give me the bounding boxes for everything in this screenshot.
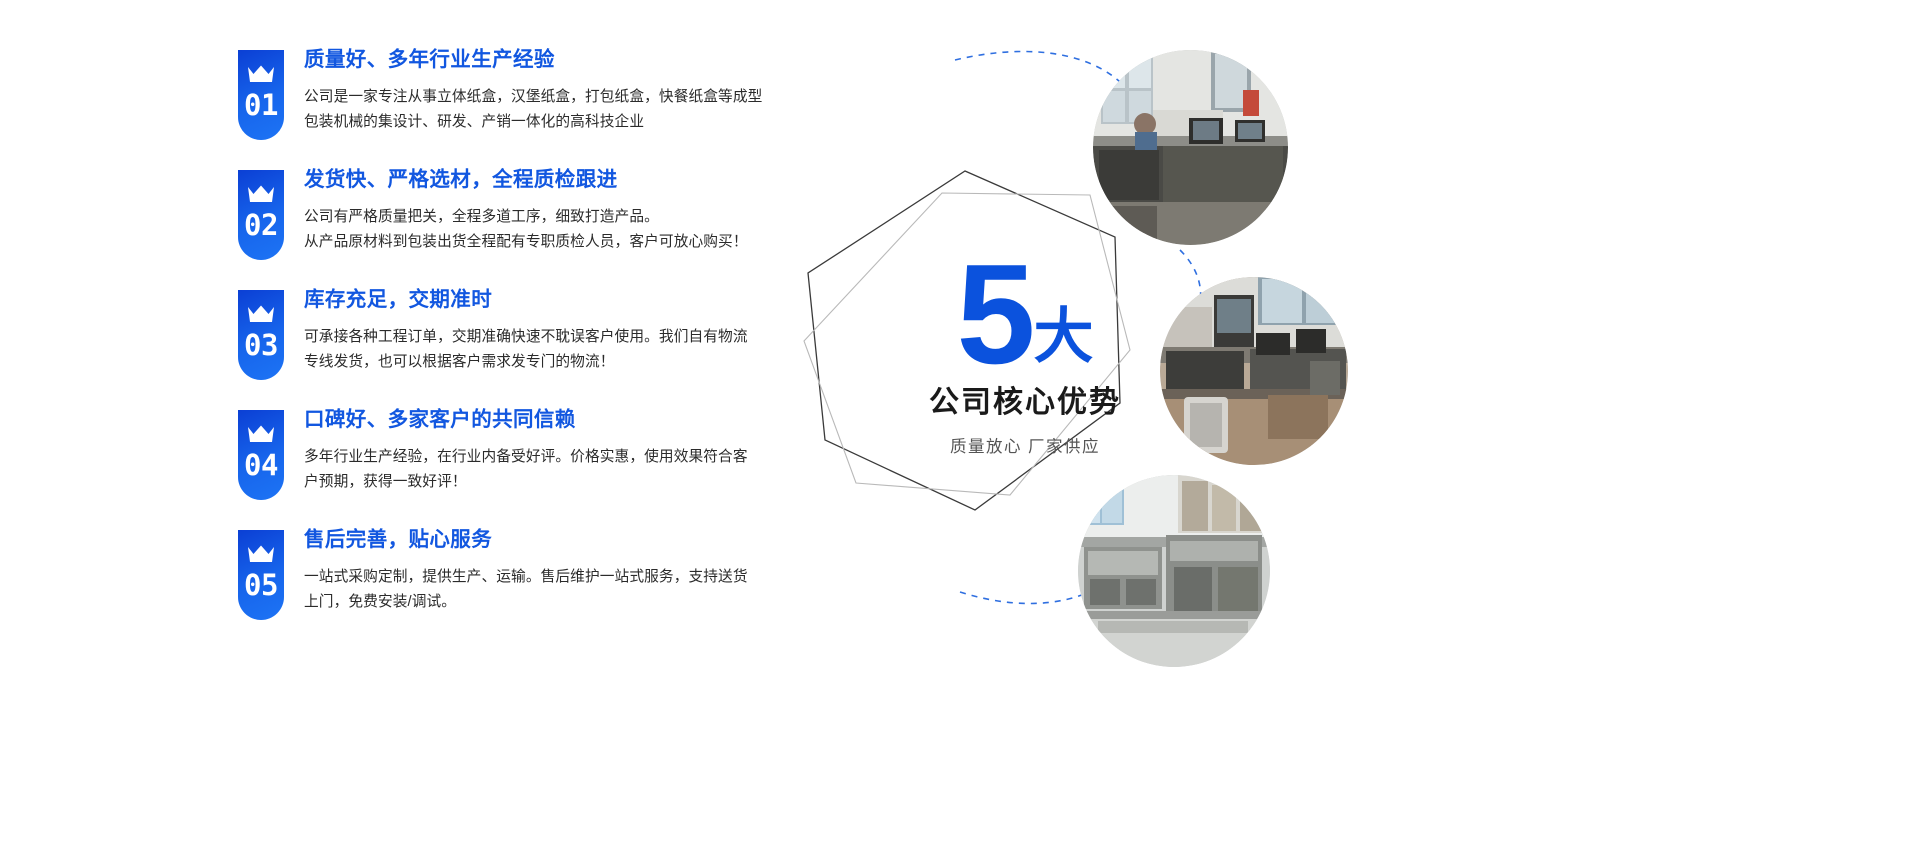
badge-number: 02: [238, 211, 284, 240]
hero-headline: 公司核心优势: [875, 377, 1175, 421]
badge-05: 05: [238, 530, 284, 620]
advantage-description: 多年行业生产经验，在行业内备受好评。价格实惠，使用效果符合客 户预期，获得一致好…: [304, 445, 783, 495]
badge-number: 04: [238, 451, 284, 480]
dashed-arc-top: [955, 51, 1132, 95]
advantage-text-01: 质量好、多年行业生产经验 公司是一家专注从事立体纸盒，汉堡纸盒，打包纸盒，快餐纸…: [304, 46, 783, 135]
crown-icon: [247, 544, 275, 564]
advantage-title: 售后完善，贴心服务: [304, 528, 783, 553]
advantage-desc-line: 从产品原材料到包装出货全程配有专职质检人员，客户可放心购买！: [304, 230, 783, 255]
production-machine-photo: [1078, 475, 1270, 667]
advantage-desc-line: 专线发货，也可以根据客户需求发专门的物流！: [304, 350, 783, 375]
office-desks-photo: [1160, 277, 1348, 465]
advantage-desc-line: 一站式采购定制，提供生产、运输。售后维护一站式服务，支持送货: [304, 565, 783, 590]
advantage-description: 公司是一家专注从事立体纸盒，汉堡纸盒，打包纸盒，快餐纸盒等成型 包装机械的集设计…: [304, 85, 783, 135]
advantage-text-03: 库存充足，交期准时 可承接各种工程订单，交期准确快速不耽误客户使用。我们自有物流…: [304, 286, 783, 375]
advantage-item-04[interactable]: 04 口碑好、多家客户的共同信赖 多年行业生产经验，在行业内备受好评。价格实惠，…: [238, 406, 783, 500]
advantages-page: 01 质量好、多年行业生产经验 公司是一家专注从事立体纸盒，汉堡纸盒，打包纸盒，…: [0, 0, 1920, 847]
advantage-description: 一站式采购定制，提供生产、运输。售后维护一站式服务，支持送货 上门，免费安装/调…: [304, 565, 783, 615]
badge-number: 01: [238, 91, 284, 120]
crown-icon: [247, 304, 275, 324]
advantage-desc-line: 多年行业生产经验，在行业内备受好评。价格实惠，使用效果符合客: [304, 445, 783, 470]
crown-icon: [247, 424, 275, 444]
badge-number: 05: [238, 571, 284, 600]
crown-icon: [247, 64, 275, 84]
badge-02: 02: [238, 170, 284, 260]
badge-01: 01: [238, 50, 284, 140]
advantage-title: 质量好、多年行业生产经验: [304, 48, 783, 73]
hero-center-text: 5大 公司核心优势 质量放心 厂家供应: [875, 250, 1175, 457]
advantage-description: 可承接各种工程订单，交期准确快速不耽误客户使用。我们自有物流 专线发货，也可以根…: [304, 325, 783, 375]
advantage-title: 库存充足，交期准时: [304, 288, 783, 313]
advantage-item-01[interactable]: 01 质量好、多年行业生产经验 公司是一家专注从事立体纸盒，汉堡纸盒，打包纸盒，…: [238, 46, 783, 140]
advantage-text-02: 发货快、严格选材，全程质检跟进 公司有严格质量把关，全程多道工序，细致打造产品。…: [304, 166, 783, 255]
advantage-item-03[interactable]: 03 库存充足，交期准时 可承接各种工程订单，交期准确快速不耽误客户使用。我们自…: [238, 286, 783, 380]
advantage-desc-line: 户预期，获得一致好评！: [304, 470, 783, 495]
office-desks-image: [1160, 277, 1348, 465]
advantage-item-02[interactable]: 02 发货快、严格选材，全程质检跟进 公司有严格质量把关，全程多道工序，细致打造…: [238, 166, 783, 260]
production-machine-image: [1078, 475, 1270, 667]
advantage-item-05[interactable]: 05 售后完善，贴心服务 一站式采购定制，提供生产、运输。售后维护一站式服务，支…: [238, 526, 783, 620]
hero-count-unit: 大: [1033, 307, 1093, 367]
hero-subheadline: 质量放心 厂家供应: [875, 433, 1175, 457]
hero-panel: 5大 公司核心优势 质量放心 厂家供应: [780, 0, 1920, 847]
advantage-title: 发货快、严格选材，全程质检跟进: [304, 168, 783, 193]
advantages-list: 01 质量好、多年行业生产经验 公司是一家专注从事立体纸盒，汉堡纸盒，打包纸盒，…: [238, 46, 783, 620]
advantage-desc-line: 公司有严格质量把关，全程多道工序，细致打造产品。: [304, 205, 783, 230]
badge-number: 03: [238, 331, 284, 360]
advantage-desc-line: 上门，免费安装/调试。: [304, 590, 783, 615]
office-workstation-image: [1093, 50, 1288, 245]
advantage-desc-line: 公司是一家专注从事立体纸盒，汉堡纸盒，打包纸盒，快餐纸盒等成型: [304, 85, 783, 110]
advantage-description: 公司有严格质量把关，全程多道工序，细致打造产品。 从产品原材料到包装出货全程配有…: [304, 205, 783, 255]
advantage-title: 口碑好、多家客户的共同信赖: [304, 408, 783, 433]
hero-count: 5: [957, 250, 1032, 381]
advantage-desc-line: 包装机械的集设计、研发、产销一体化的高科技企业: [304, 110, 783, 135]
badge-04: 04: [238, 410, 284, 500]
advantage-text-05: 售后完善，贴心服务 一站式采购定制，提供生产、运输。售后维护一站式服务，支持送货…: [304, 526, 783, 615]
badge-03: 03: [238, 290, 284, 380]
crown-icon: [247, 184, 275, 204]
advantage-desc-line: 可承接各种工程订单，交期准确快速不耽误客户使用。我们自有物流: [304, 325, 783, 350]
office-workstation-photo: [1093, 50, 1288, 245]
advantage-text-04: 口碑好、多家客户的共同信赖 多年行业生产经验，在行业内备受好评。价格实惠，使用效…: [304, 406, 783, 495]
